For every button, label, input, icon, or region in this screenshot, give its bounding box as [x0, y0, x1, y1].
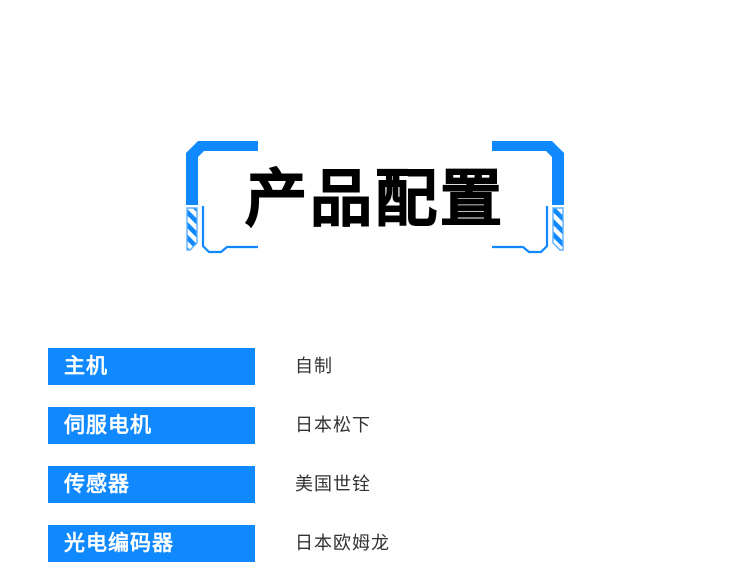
spec-table: 主机 自制 伺服电机 日本松下 传感器 美国世铨 光电编码器 日本欧姆龙 [0, 348, 750, 584]
spec-label: 主机 [48, 348, 255, 385]
table-row: 传感器 美国世铨 [0, 466, 750, 525]
title-block: 产品配置 [0, 130, 750, 270]
table-row: 主机 自制 [0, 348, 750, 407]
table-row: 伺服电机 日本松下 [0, 407, 750, 466]
table-row: 光电编码器 日本欧姆龙 [0, 525, 750, 584]
spec-value: 自制 [295, 348, 333, 385]
spec-value: 日本欧姆龙 [295, 525, 390, 562]
spec-label: 光电编码器 [48, 525, 255, 562]
spec-value: 日本松下 [295, 407, 371, 444]
spec-label: 伺服电机 [48, 407, 255, 444]
spec-label: 传感器 [48, 466, 255, 503]
spec-value: 美国世铨 [295, 466, 371, 503]
page-title: 产品配置 [0, 130, 750, 270]
